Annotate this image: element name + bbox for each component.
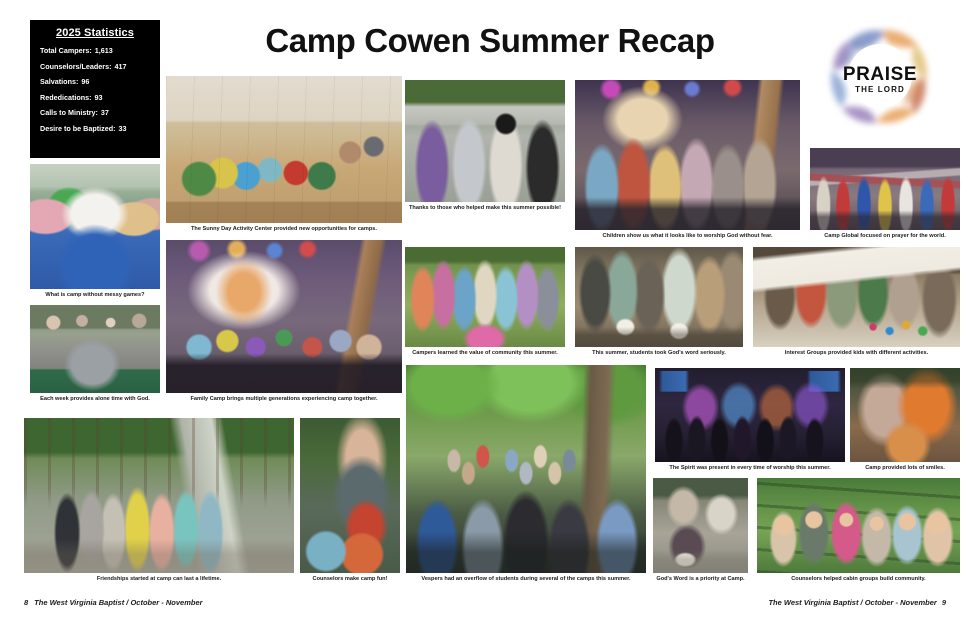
photo-caption: Friendships started at camp can last a l… (24, 573, 294, 583)
photo-community-value (405, 247, 565, 347)
stat-label: Rededications: (40, 93, 92, 102)
photo-caption: Family Camp brings multiple generations … (166, 393, 402, 403)
stat-value: 93 (95, 93, 103, 102)
photo-caption: Camp provided lots of smiles. (850, 462, 960, 472)
photo-cell-camp-global: Camp Global focused on prayer for the wo… (810, 148, 960, 240)
photo-alone-time (30, 305, 160, 393)
stat-label: Salvations: (40, 77, 78, 86)
photo-messy-games (30, 164, 160, 289)
statistics-title: 2025 Statistics (38, 27, 152, 39)
stat-row: Rededications:93 (38, 93, 152, 102)
photo-friendships (24, 418, 294, 573)
photo-caption: Vespers had an overflow of students duri… (406, 573, 646, 583)
photo-cell-alone-time: Each week provides alone time with God. (30, 305, 160, 403)
photo-caption: Camp Global focused on prayer for the wo… (810, 230, 960, 240)
photo-cell-friendships: Friendships started at camp can last a l… (24, 418, 294, 583)
stat-value: 1,613 (95, 46, 113, 55)
stat-label: Total Campers: (40, 46, 92, 55)
photo-gods-word-seriously (575, 247, 743, 347)
photo-caption: This summer, students took God's word se… (575, 347, 743, 357)
photo-cell-community-value: Campers learned the value of community t… (405, 247, 565, 357)
stat-row: Desire to be Baptized:33 (38, 124, 152, 133)
photo-cell-gods-word-seriously: This summer, students took God's word se… (575, 247, 743, 357)
photo-cell-messy-games: What is camp without messy games? (30, 164, 160, 299)
stat-row: Total Campers:1,613 (38, 46, 152, 55)
magazine-page: 2025 Statistics Total Campers:1,613 Coun… (0, 0, 970, 617)
photo-counselors-fun (300, 418, 400, 573)
footer-left-page: 8 (24, 598, 28, 607)
photo-caption: God's Word is a priority at Camp. (653, 573, 748, 583)
photo-gym-activity (166, 76, 402, 223)
photo-interest-groups (753, 247, 960, 347)
stat-label: Counselors/Leaders: (40, 62, 112, 71)
stat-label: Calls to Ministry: (40, 108, 98, 117)
photo-vespers-overflow (406, 365, 646, 573)
stat-value: 33 (118, 124, 126, 133)
photo-camp-global (810, 148, 960, 230)
photo-spirit-present (655, 368, 845, 462)
photo-caption: The Sunny Day Activity Center provided n… (166, 223, 402, 233)
photo-caption: Thanks to those who helped make this sum… (405, 202, 565, 212)
photo-cell-counselors-fun: Counselors make camp fun! (300, 418, 400, 583)
photo-caption: Campers learned the value of community t… (405, 347, 565, 357)
photo-caption: Interest Groups provided kids with diffe… (753, 347, 960, 357)
photo-cell-cabin-community: Counselors helped cabin groups build com… (757, 478, 960, 583)
photo-caption: Each week provides alone time with God. (30, 393, 160, 403)
photo-cell-worship-without-fear: Children show us what it looks like to w… (575, 80, 800, 240)
photo-cell-spirit-present: The Spirit was present in every time of … (655, 368, 845, 472)
photo-cell-vespers-overflow: Vespers had an overflow of students duri… (406, 365, 646, 583)
stat-label: Desire to be Baptized: (40, 124, 115, 133)
photo-caption: Counselors helped cabin groups build com… (757, 573, 960, 583)
photo-caption: The Spirit was present in every time of … (655, 462, 845, 472)
logo-main-text: PRAISE (843, 64, 917, 85)
photo-cell-gym-activity: The Sunny Day Activity Center provided n… (166, 76, 402, 233)
photo-gods-word-priority (653, 478, 748, 573)
photo-cell-family-camp: Family Camp brings multiple generations … (166, 240, 402, 403)
photo-cell-lots-of-smiles: Camp provided lots of smiles. (850, 368, 960, 472)
logo-sub-text: THE LORD (855, 85, 905, 94)
page-title: Camp Cowen Summer Recap (190, 22, 790, 60)
footer-right-text: The West Virginia Baptist / October - No… (768, 598, 936, 607)
stat-value: 417 (115, 62, 127, 71)
footer-left: 8The West Virginia Baptist / October - N… (24, 598, 203, 607)
photo-family-camp (166, 240, 402, 393)
photo-thanks-helpers (405, 80, 565, 202)
footer-right-page: 9 (942, 598, 946, 607)
stat-value: 96 (81, 77, 89, 86)
photo-cell-interest-groups: Interest Groups provided kids with diffe… (753, 247, 960, 357)
stat-value: 37 (101, 108, 109, 117)
photo-caption: Children show us what it looks like to w… (575, 230, 800, 240)
photo-worship-without-fear (575, 80, 800, 230)
photo-lots-of-smiles (850, 368, 960, 462)
photo-caption: What is camp without messy games? (30, 289, 160, 299)
photo-cell-gods-word-priority: God's Word is a priority at Camp. (653, 478, 748, 583)
photo-caption: Counselors make camp fun! (300, 573, 400, 583)
stat-row: Salvations:96 (38, 77, 152, 86)
photo-cell-thanks-helpers: Thanks to those who helped make this sum… (405, 80, 565, 212)
stat-row: Counselors/Leaders:417 (38, 62, 152, 71)
photo-cabin-community (757, 478, 960, 573)
statistics-box: 2025 Statistics Total Campers:1,613 Coun… (30, 20, 160, 158)
stat-row: Calls to Ministry:37 (38, 108, 152, 117)
footer-left-text: The West Virginia Baptist / October - No… (34, 598, 202, 607)
footer-right: The West Virginia Baptist / October - No… (768, 598, 946, 607)
praise-the-lord-logo: PRAISE THE LORD (818, 20, 943, 132)
